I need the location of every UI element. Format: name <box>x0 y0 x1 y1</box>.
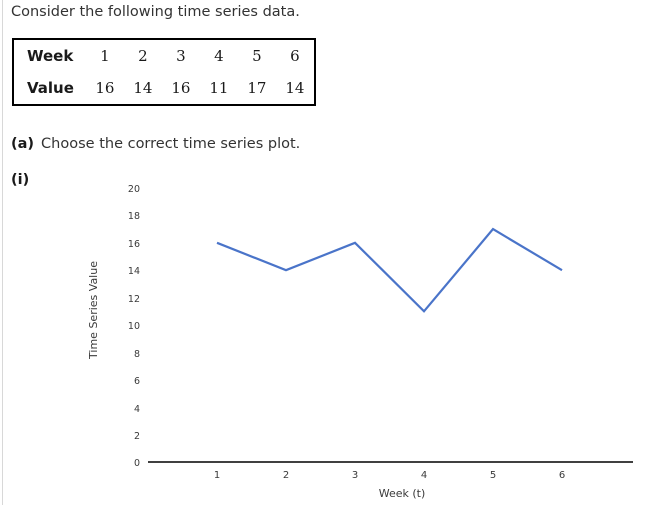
y-tick-0: 0 <box>134 458 140 469</box>
y-tick-20: 20 <box>128 184 140 195</box>
y-tick-2: 2 <box>134 431 140 442</box>
value-cell-3: 16 <box>162 72 200 105</box>
x-axis-title: Week (t) <box>379 487 426 500</box>
y-tick-16: 16 <box>128 239 140 250</box>
table-row: Value 16 14 16 11 17 14 <box>13 72 315 105</box>
week-cell-3: 3 <box>162 39 200 72</box>
table-row: Week 1 2 3 4 5 6 <box>13 39 315 72</box>
time-series-data-table: Week 1 2 3 4 5 6 Value 16 14 16 11 17 14 <box>12 38 316 106</box>
table-row-header-value: Value <box>13 72 86 105</box>
x-tick-2: 2 <box>283 470 289 481</box>
part-a-text: Choose the correct time series plot. <box>41 136 300 152</box>
x-tick-1: 1 <box>214 470 220 481</box>
week-cell-1: 1 <box>86 39 124 72</box>
y-tick-14: 14 <box>128 266 140 277</box>
table-row-header-week: Week <box>13 39 86 72</box>
part-a-label: (a) <box>11 136 34 152</box>
x-tick-5: 5 <box>490 470 496 481</box>
value-cell-4: 11 <box>200 72 238 105</box>
value-cell-1: 16 <box>86 72 124 105</box>
value-cell-6: 14 <box>276 72 315 105</box>
y-tick-4: 4 <box>134 404 140 415</box>
page-left-rule <box>2 0 3 505</box>
x-tick-4: 4 <box>421 470 427 481</box>
week-cell-4: 4 <box>200 39 238 72</box>
x-axis-tick-labels: 1 2 3 4 5 6 <box>214 470 565 481</box>
series-line-time-series-value <box>217 229 562 311</box>
y-tick-6: 6 <box>134 376 140 387</box>
question-part-a: (a)Choose the correct time series plot. <box>11 136 300 152</box>
value-cell-2: 14 <box>124 72 162 105</box>
y-axis-tick-labels: 20 18 16 14 12 10 8 6 4 2 0 <box>128 184 140 469</box>
week-cell-6: 6 <box>276 39 315 72</box>
x-tick-3: 3 <box>352 470 358 481</box>
y-axis-title: Time Series Value <box>87 261 100 360</box>
y-tick-8: 8 <box>134 349 140 360</box>
y-tick-18: 18 <box>128 211 140 222</box>
x-tick-6: 6 <box>559 470 565 481</box>
option-label-i: (i) <box>11 172 29 188</box>
value-cell-5: 17 <box>238 72 276 105</box>
week-cell-5: 5 <box>238 39 276 72</box>
y-tick-12: 12 <box>128 294 140 305</box>
week-cell-2: 2 <box>124 39 162 72</box>
y-tick-10: 10 <box>128 321 140 332</box>
prompt-text: Consider the following time series data. <box>11 4 300 20</box>
